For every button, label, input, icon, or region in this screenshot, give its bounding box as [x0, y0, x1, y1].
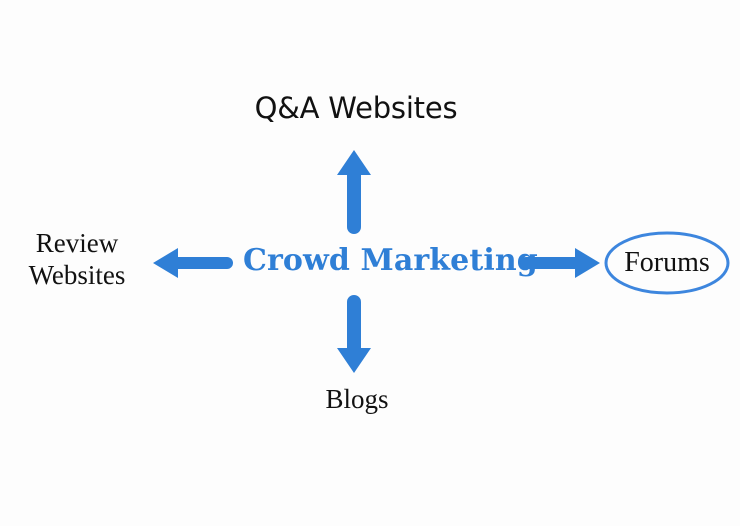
node-label-blogs: Blogs	[292, 384, 422, 414]
diagram-canvas: Q&A Websites Review Websites Crowd Marke…	[0, 0, 740, 526]
node-label-forums: Forums	[606, 247, 728, 278]
node-label-qa-websites: Q&A Websites	[236, 92, 476, 124]
arrow-left-icon	[151, 247, 235, 279]
node-label-review-websites: Review Websites	[2, 228, 152, 292]
arrow-right-icon	[518, 247, 602, 279]
center-node-label: Crowd Marketing	[243, 243, 519, 278]
arrow-down-icon	[334, 293, 374, 375]
arrow-up-icon	[334, 148, 374, 236]
